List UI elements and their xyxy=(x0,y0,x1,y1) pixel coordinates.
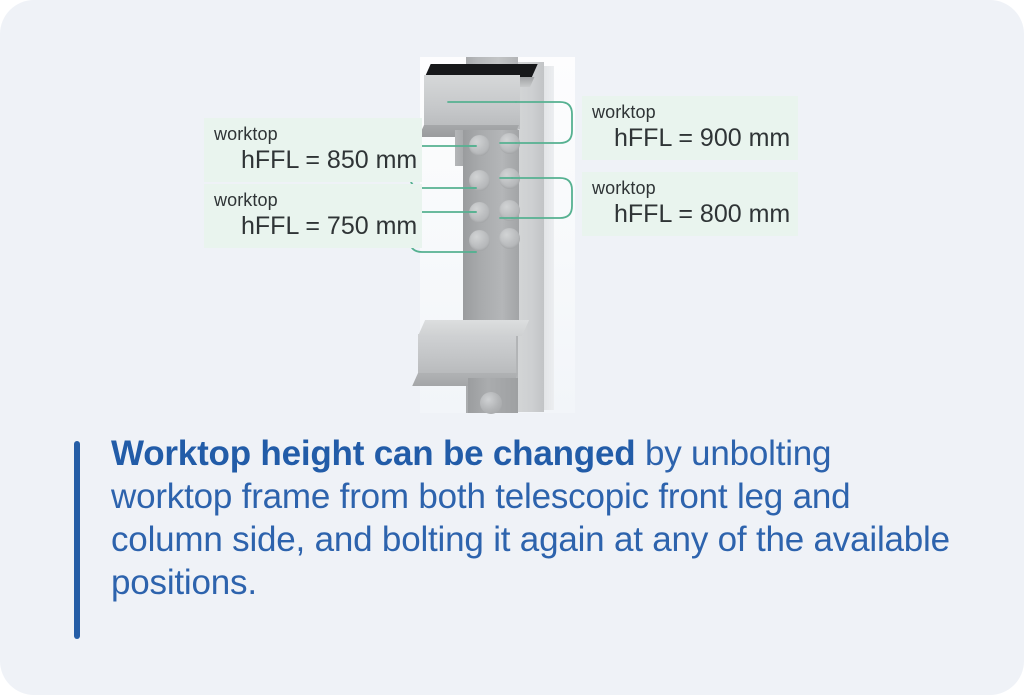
callout-title: worktop xyxy=(214,125,410,143)
bolt-hole xyxy=(499,168,520,189)
caption-text: Worktop height can be changed by unbolti… xyxy=(111,432,951,604)
callout-label-850: worktop hFFL = 850 mm xyxy=(204,118,422,182)
worktop-frame-lower-face xyxy=(418,334,516,376)
bolt-hole xyxy=(469,135,490,156)
callout-title: worktop xyxy=(592,179,786,197)
callout-label-750: worktop hFFL = 750 mm xyxy=(204,184,422,248)
bolt-hole xyxy=(469,202,490,223)
bolt-hole-plate xyxy=(463,130,519,320)
callout-title: worktop xyxy=(214,191,410,209)
callout-value: hFFL = 800 mm xyxy=(592,202,786,227)
leg-bolt xyxy=(480,392,502,414)
illustration-area: worktop hFFL = 850 mm worktop hFFL = 750… xyxy=(0,0,1024,430)
caption-block: Worktop height can be changed by unbolti… xyxy=(74,441,954,641)
callout-value: hFFL = 900 mm xyxy=(592,126,786,151)
bolt-hole xyxy=(499,133,520,154)
callout-value: hFFL = 850 mm xyxy=(214,148,410,173)
info-card: worktop hFFL = 850 mm worktop hFFL = 750… xyxy=(0,0,1024,695)
callout-label-900: worktop hFFL = 900 mm xyxy=(582,96,798,160)
bolt-hole xyxy=(499,200,520,221)
column-side-edge xyxy=(544,66,554,410)
callout-title: worktop xyxy=(592,103,786,121)
product-render xyxy=(0,0,1024,430)
bolt-hole xyxy=(469,230,490,251)
bolt-hole xyxy=(469,170,490,191)
callout-label-800: worktop hFFL = 800 mm xyxy=(582,172,798,236)
column-side-face xyxy=(518,62,544,412)
callout-value: hFFL = 750 mm xyxy=(214,214,410,239)
accent-bar xyxy=(74,441,80,639)
worktop-frame-upper-face xyxy=(424,75,520,129)
caption-bold-lead: Worktop height can be changed xyxy=(111,434,635,473)
bolt-hole xyxy=(499,228,520,249)
